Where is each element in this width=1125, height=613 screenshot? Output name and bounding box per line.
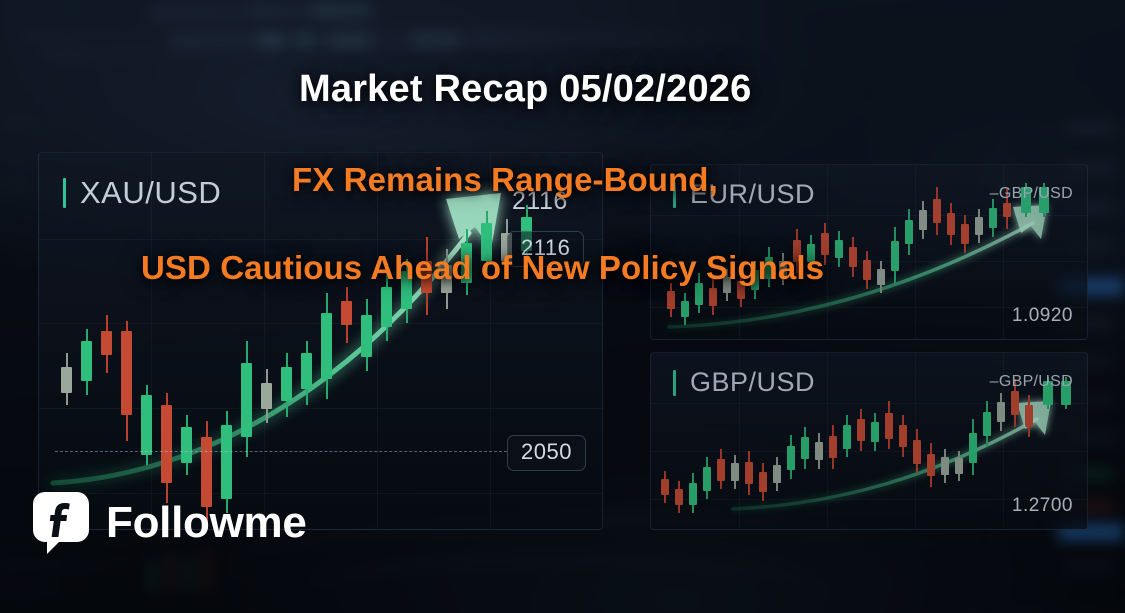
candle [913, 429, 921, 473]
candle [261, 369, 272, 423]
candle [321, 293, 332, 399]
candle [899, 415, 907, 457]
candle [863, 251, 871, 289]
candle [181, 415, 192, 475]
candle [161, 393, 172, 503]
candle [983, 401, 991, 447]
bg-toolbar-row [20, 32, 140, 40]
candle [947, 203, 955, 245]
bg-side-row [1068, 122, 1114, 134]
candle [955, 451, 963, 481]
symbol-label-gbpusd: GBP/USD [690, 367, 815, 398]
candle [843, 415, 851, 457]
headline-line-2: USD Cautious Ahead of New Policy Signals [141, 249, 824, 287]
bg-toolbar-chip [412, 33, 462, 46]
candle [675, 481, 683, 513]
candle [341, 287, 352, 343]
accent-bar-icon [63, 178, 66, 208]
candle [905, 209, 913, 255]
candle [773, 457, 781, 491]
bg-side-row [1066, 560, 1114, 572]
candle [891, 227, 899, 283]
price-badge-low-xauusd[interactable]: 2050 [507, 435, 586, 471]
candle [941, 449, 949, 483]
followme-speech-bubble-f-icon [33, 492, 89, 554]
price-label-eurusd: 1.0920 [1012, 305, 1073, 327]
candle [933, 187, 941, 235]
chart-card-gbpusd[interactable]: GBP/USD –GBP/USD 1.2700 [650, 352, 1088, 530]
bg-quote-row [0, 585, 110, 594]
legend-label-gbpusd: –GBP/USD [990, 373, 1073, 391]
candle [731, 455, 739, 489]
bg-quote-row [0, 560, 150, 570]
candle [969, 419, 977, 475]
price-label-gbpusd: 1.2700 [1012, 495, 1073, 517]
candle [703, 457, 711, 499]
candle [281, 353, 292, 417]
candle [689, 473, 697, 513]
candle [661, 471, 669, 503]
bg-toolbar-chip [330, 33, 370, 47]
reference-line-2050 [55, 451, 507, 452]
candle [101, 315, 112, 373]
bg-candle [168, 552, 173, 592]
candle [877, 261, 885, 293]
bg-toolbar-row [470, 30, 770, 44]
candle [121, 321, 132, 441]
candle [857, 409, 865, 451]
candle [717, 449, 725, 489]
candle [1025, 395, 1033, 437]
bg-chart-curve [300, 560, 820, 613]
chart-header-xauusd: XAU/USD [63, 175, 221, 211]
candle [681, 293, 689, 325]
candle [241, 341, 252, 457]
candle [835, 231, 843, 267]
candle [989, 199, 997, 237]
candle [871, 413, 879, 451]
bg-toolbar-chip [312, 4, 372, 17]
candle [81, 329, 92, 395]
candle [801, 427, 809, 469]
bg-quote-row [0, 120, 60, 129]
candle [759, 463, 767, 501]
accent-bar-icon [673, 370, 676, 396]
candle [849, 237, 857, 277]
candle [975, 209, 983, 243]
bg-toolbar-row [40, 50, 220, 60]
brand-name: Followme [106, 498, 307, 548]
bg-toolbar-chip [296, 33, 314, 47]
candle [667, 283, 675, 317]
candle [885, 401, 893, 449]
bg-candle [186, 556, 191, 592]
candle [997, 393, 1005, 431]
candle [919, 201, 927, 239]
candle [141, 385, 152, 465]
candle [301, 341, 312, 405]
chart-header-gbpusd: GBP/USD [673, 367, 815, 398]
page-title: Market Recap 05/02/2026 [299, 68, 751, 111]
bg-toolbar-chip [258, 33, 284, 47]
candle [829, 425, 837, 469]
candle [815, 433, 823, 469]
chart-card-xauusd[interactable]: XAU/USD 2116 2116 2050 [38, 152, 603, 530]
social-media-market-recap-graphic: XAU/USD 2116 2116 2050 [0, 0, 1125, 613]
candle [745, 451, 753, 495]
brand-logo[interactable]: Followme [33, 492, 307, 554]
bg-candle [150, 560, 155, 594]
legend-label-eurusd: –GBP/USD [990, 185, 1073, 203]
bg-candle [204, 548, 209, 592]
symbol-label-xauusd: XAU/USD [80, 175, 221, 211]
candle [361, 299, 372, 371]
candle [927, 443, 935, 487]
candle [61, 353, 72, 405]
candle [787, 435, 795, 479]
candle [961, 215, 969, 253]
headline-line-1: FX Remains Range-Bound, [292, 161, 718, 199]
